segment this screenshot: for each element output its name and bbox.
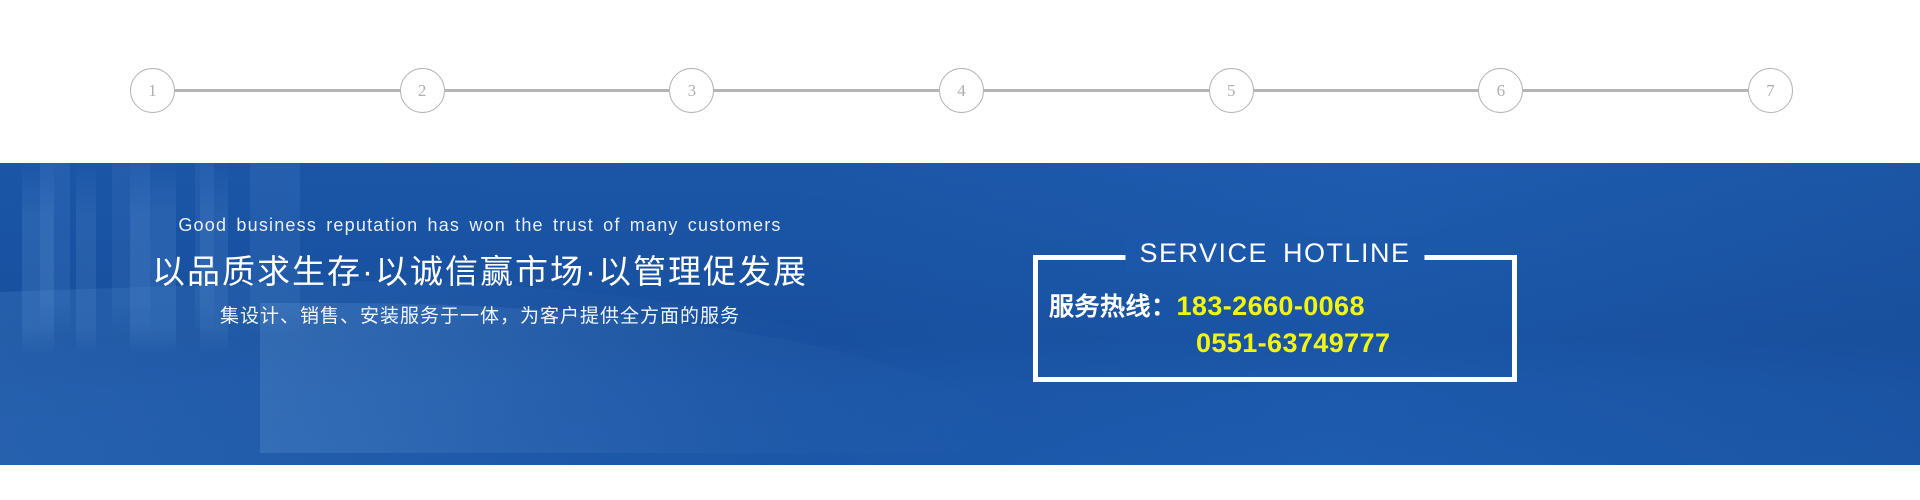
tagline-chinese-headline: 以品质求生存·以诚信赢市场·以管理促发展 <box>0 251 960 294</box>
step-connector-3-4 <box>714 89 939 92</box>
hotline-label: 服务热线： <box>1049 291 1177 325</box>
page-root: 1 2 3 4 5 6 7 <box>0 0 1920 500</box>
hotline-numbers: 服务热线： 183-2660-0068 0551-63749777 <box>1033 288 1517 361</box>
step-label-3: 3 <box>688 82 697 99</box>
step-connector-4-5 <box>984 89 1209 92</box>
step-node-5[interactable]: 5 <box>1209 68 1254 113</box>
step-label-2: 2 <box>418 82 427 99</box>
step-node-3[interactable]: 3 <box>669 68 714 113</box>
banner-copy: Good business reputation has won the tru… <box>0 163 960 465</box>
hotline-number-secondary[interactable]: 0551-63749777 <box>1196 325 1390 361</box>
step-node-6[interactable]: 6 <box>1478 68 1523 113</box>
tagline-chinese-subtitle: 集设计、销售、安装服务于一体，为客户提供全方面的服务 <box>0 305 960 330</box>
step-label-6: 6 <box>1497 82 1506 99</box>
hotline-number-primary[interactable]: 183-2660-0068 <box>1177 288 1365 324</box>
step-label-4: 4 <box>957 82 966 99</box>
step-node-4[interactable]: 4 <box>939 68 984 113</box>
hotline-row-primary: 服务热线： 183-2660-0068 <box>1049 288 1517 325</box>
step-node-2[interactable]: 2 <box>400 68 445 113</box>
step-indicator: 1 2 3 4 5 6 7 <box>0 0 1920 163</box>
step-track: 1 2 3 4 5 6 7 <box>130 70 1793 110</box>
step-label-1: 1 <box>148 82 157 99</box>
step-connector-6-7 <box>1523 89 1748 92</box>
step-connector-2-3 <box>445 89 670 92</box>
step-connector-5-6 <box>1254 89 1479 92</box>
promo-banner: Good business reputation has won the tru… <box>0 163 1920 465</box>
tagline-english: Good business reputation has won the tru… <box>0 215 960 237</box>
service-hotline-box: SERVICE HOTLINE 服务热线： 183-2660-0068 0551… <box>1033 255 1517 382</box>
step-label-7: 7 <box>1766 82 1775 99</box>
step-connector-1-2 <box>175 89 400 92</box>
step-node-1[interactable]: 1 <box>130 68 175 113</box>
step-label-5: 5 <box>1227 82 1236 99</box>
banner-copy-inner: Good business reputation has won the tru… <box>0 215 960 330</box>
step-node-7[interactable]: 7 <box>1748 68 1793 113</box>
hotline-row-secondary: 0551-63749777 <box>1049 325 1517 361</box>
hotline-title: SERVICE HOTLINE <box>1125 237 1424 271</box>
